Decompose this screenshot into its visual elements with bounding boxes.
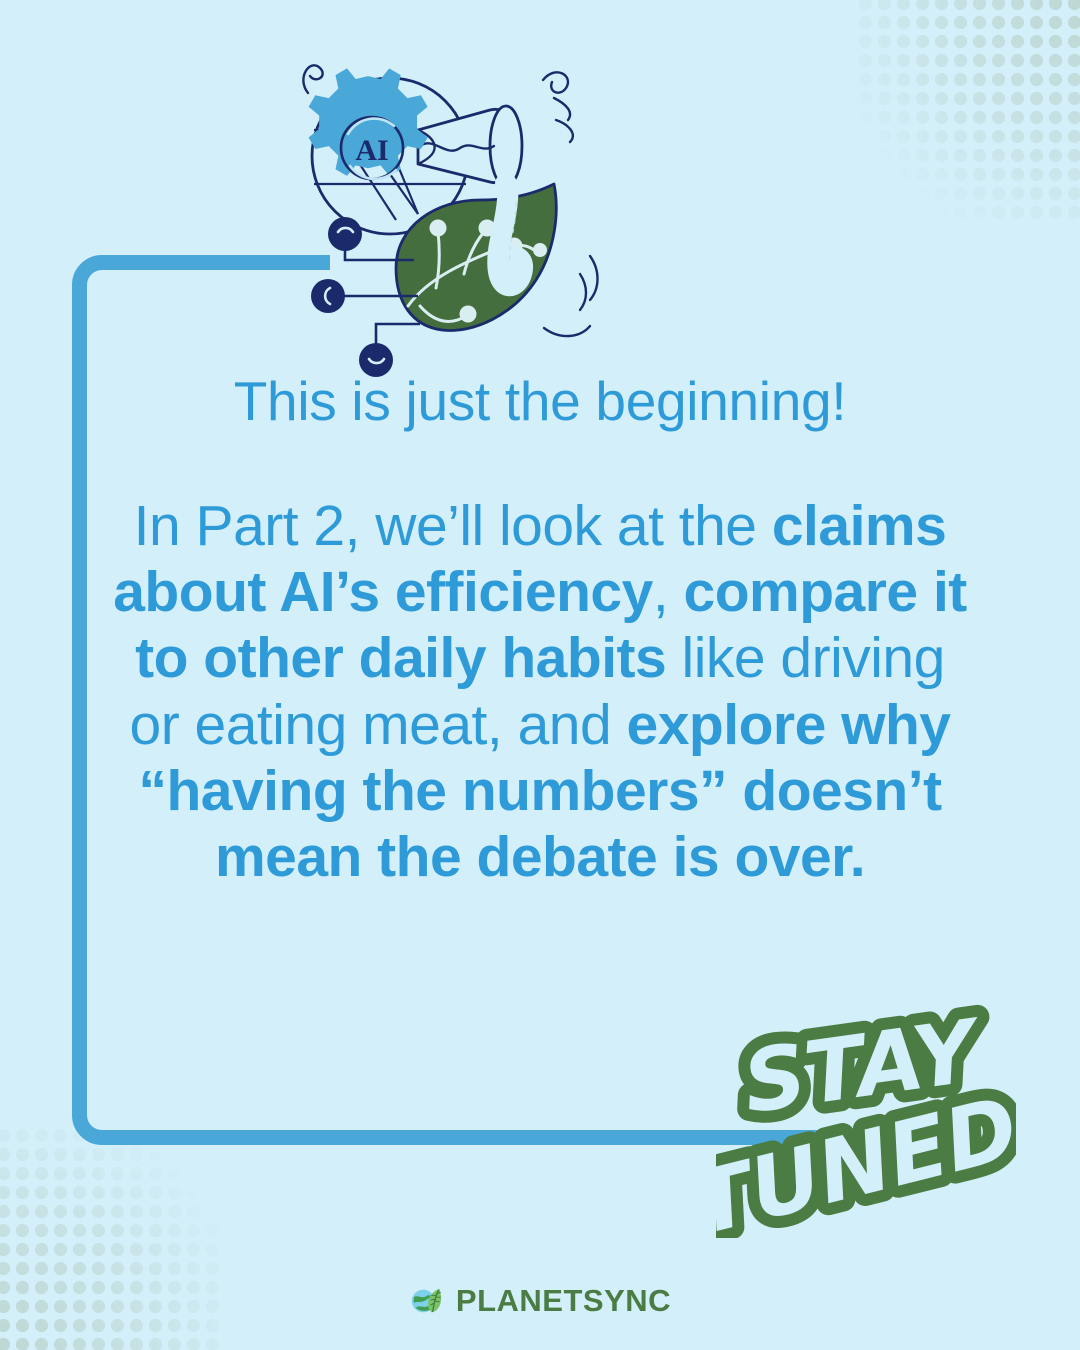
page-title: This is just the beginning! — [110, 370, 970, 433]
leaf-icon — [396, 184, 556, 331]
circuit-node-middle — [311, 279, 345, 313]
poster-canvas: AI This is just the beginning! In Part 2… — [0, 0, 1080, 1350]
brand-logo: PLANETSYNC — [0, 1282, 1080, 1320]
body-paragraph: In Part 2, we’ll look at the claims abou… — [110, 493, 970, 890]
body-segment-2: , — [653, 560, 684, 624]
ai-leaf-illustration: AI — [268, 38, 628, 383]
brand-name: PLANETSYNC — [456, 1283, 671, 1319]
halftone-pattern-top-right — [856, 0, 1080, 224]
body-segment-0: In Part 2, we’ll look at the — [134, 494, 772, 558]
circuit-node-top — [328, 217, 362, 251]
ai-gear-icon: AI — [309, 68, 428, 179]
ai-gear-label: AI — [355, 134, 388, 167]
text-block: This is just the beginning! In Part 2, w… — [110, 370, 970, 890]
stay-tuned-badge: STAY STAY TUNED TUNED — [716, 988, 1016, 1238]
globe-leaf-icon — [409, 1282, 447, 1320]
